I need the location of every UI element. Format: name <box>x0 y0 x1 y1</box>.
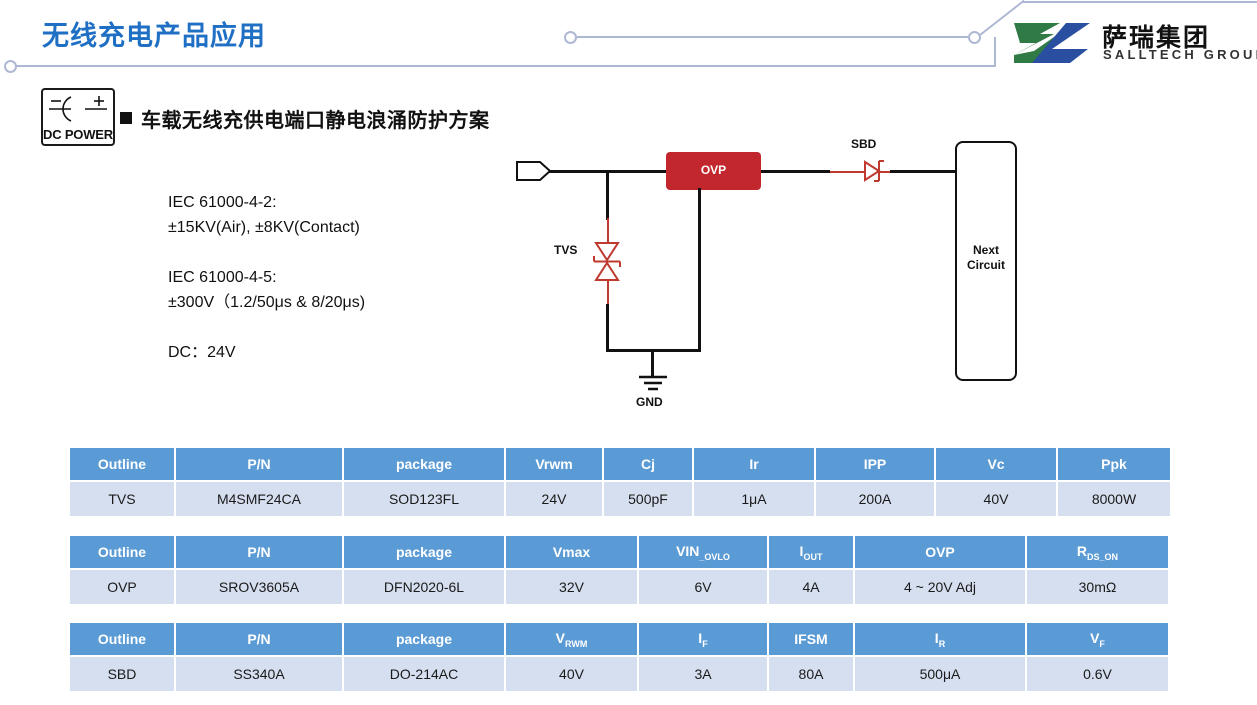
th-cj: Cj <box>604 448 692 480</box>
page-header: 无线充电产品应用 萨瑞集团 SALLTECH GROUP <box>0 0 1257 92</box>
deco-line-top <box>1022 1 1257 3</box>
td-pn: SS340A <box>176 655 342 691</box>
wire-ovp-ground-vertical <box>698 188 701 352</box>
circuit-diagram: OVP SBD TVS GND Next <box>480 130 1050 430</box>
input-connector-icon <box>516 160 552 182</box>
td-outline: SBD <box>70 655 174 691</box>
td-rds-on: 30mΩ <box>1027 568 1168 604</box>
schottky-diode-icon <box>863 158 885 184</box>
spec-line: IEC 61000-4-5: <box>168 265 468 290</box>
table-row: OVP SROV3605A DFN2020-6L 32V 6V 4A 4 ~ 2… <box>70 568 1168 604</box>
section-heading: 车载无线充供电端口静电浪涌防护方案 <box>141 104 490 133</box>
td-vf: 0.6V <box>1027 655 1168 691</box>
table-row: SBD SS340A DO-214AC 40V 3A 80A 500μA 0.6… <box>70 655 1168 691</box>
th-vf: VF <box>1027 623 1168 655</box>
spec-line: ±15KV(Air), ±8KV(Contact) <box>168 215 468 240</box>
spec-list: IEC 61000-4-2: ±15KV(Air), ±8KV(Contact)… <box>168 190 468 365</box>
td-ipp: 200A <box>816 480 934 516</box>
th-package: package <box>344 623 504 655</box>
wire-tvs-bottom <box>606 304 609 352</box>
th-pn: P/N <box>176 536 342 568</box>
th-rds-on: RDS_ON <box>1027 536 1168 568</box>
td-cj: 500pF <box>604 480 692 516</box>
next-circuit-line2: Circuit <box>957 258 1015 273</box>
th-pn: P/N <box>176 623 342 655</box>
td-ir: 500μA <box>855 655 1025 691</box>
th-if: IF <box>639 623 767 655</box>
sbd-spec-table: Outline P/N package VRWM IF IFSM IR VF S… <box>68 623 1170 691</box>
th-iout: IOUT <box>769 536 853 568</box>
th-ir: Ir <box>694 448 814 480</box>
th-vc: Vc <box>936 448 1056 480</box>
table-row: TVS M4SMF24CA SOD123FL 24V 500pF 1μA 200… <box>70 480 1170 516</box>
bullet-square-icon <box>120 112 132 124</box>
td-vrwm: 24V <box>506 480 602 516</box>
next-circuit-line1: Next <box>957 243 1015 258</box>
next-circuit-label: Next Circuit <box>957 243 1015 273</box>
td-outline: TVS <box>70 480 174 516</box>
th-outline: Outline <box>70 448 174 480</box>
td-package: DO-214AC <box>344 655 504 691</box>
td-package: DFN2020-6L <box>344 568 504 604</box>
td-ovp: 4 ~ 20V Adj <box>855 568 1025 604</box>
th-vrwm: Vrwm <box>506 448 602 480</box>
td-pn: SROV3605A <box>176 568 342 604</box>
table-header-row: Outline P/N package Vrwm Cj Ir IPP Vc Pp… <box>70 448 1170 480</box>
dc-power-label: DC POWER <box>43 127 113 142</box>
sbd-label: SBD <box>851 137 876 151</box>
td-vc: 40V <box>936 480 1056 516</box>
spec-line: IEC 61000-4-2: <box>168 190 468 215</box>
th-outline: Outline <box>70 623 174 655</box>
th-vmax: Vmax <box>506 536 637 568</box>
th-pn: P/N <box>176 448 342 480</box>
spec-gap <box>168 240 468 265</box>
tvs-diode-icon <box>590 240 624 284</box>
next-circuit-box: Next Circuit <box>955 141 1017 381</box>
table-header-row: Outline P/N package Vmax VIN_OVLO IOUT O… <box>70 536 1168 568</box>
td-ifsm: 80A <box>769 655 853 691</box>
th-package: package <box>344 536 504 568</box>
th-ir: IR <box>855 623 1025 655</box>
page-title: 无线充电产品应用 <box>42 14 266 53</box>
spec-gap <box>168 315 468 340</box>
gnd-label: GND <box>636 395 663 409</box>
td-package: SOD123FL <box>344 480 504 516</box>
logo-mark-icon <box>1010 21 1092 65</box>
dc-source-icon <box>43 92 113 126</box>
wire-ovp-to-sbd <box>761 170 830 173</box>
th-package: package <box>344 448 504 480</box>
logo-text-en: SALLTECH GROUP <box>1103 47 1257 62</box>
th-ifsm: IFSM <box>769 623 853 655</box>
wire-sbd-to-next <box>890 170 958 173</box>
dc-power-badge: DC POWER <box>41 88 115 146</box>
wire-sbd-left <box>830 171 866 173</box>
th-ovp: OVP <box>855 536 1025 568</box>
ovp-component-box: OVP <box>666 152 761 190</box>
th-ipp: IPP <box>816 448 934 480</box>
wire-ground-stem <box>651 349 654 377</box>
deco-line-lower <box>16 65 996 67</box>
deco-line-connector <box>994 37 996 66</box>
tvs-label: TVS <box>554 243 577 257</box>
ground-icon <box>634 375 672 395</box>
td-vin-ovlo: 6V <box>639 568 767 604</box>
td-vrwm: 40V <box>506 655 637 691</box>
th-ppk: Ppk <box>1058 448 1170 480</box>
spec-line: ±300V（1.2/50μs & 8/20μs) <box>168 290 468 315</box>
th-outline: Outline <box>70 536 174 568</box>
wire-tvs-top <box>606 170 609 220</box>
ovp-spec-table: Outline P/N package Vmax VIN_OVLO IOUT O… <box>68 536 1170 604</box>
td-ir: 1μA <box>694 480 814 516</box>
th-vin-ovlo: VIN_OVLO <box>639 536 767 568</box>
td-if: 3A <box>639 655 767 691</box>
company-logo: 萨瑞集团 SALLTECH GROUP <box>1010 18 1250 70</box>
spec-line: DC：24V <box>168 340 468 365</box>
td-iout: 4A <box>769 568 853 604</box>
tvs-spec-table: Outline P/N package Vrwm Cj Ir IPP Vc Pp… <box>68 448 1172 516</box>
table-header-row: Outline P/N package VRWM IF IFSM IR VF <box>70 623 1168 655</box>
td-ppk: 8000W <box>1058 480 1170 516</box>
td-pn: M4SMF24CA <box>176 480 342 516</box>
deco-line-upper <box>576 36 970 38</box>
td-vmax: 32V <box>506 568 637 604</box>
th-vrwm: VRWM <box>506 623 637 655</box>
ovp-label: OVP <box>666 163 761 177</box>
td-outline: OVP <box>70 568 174 604</box>
